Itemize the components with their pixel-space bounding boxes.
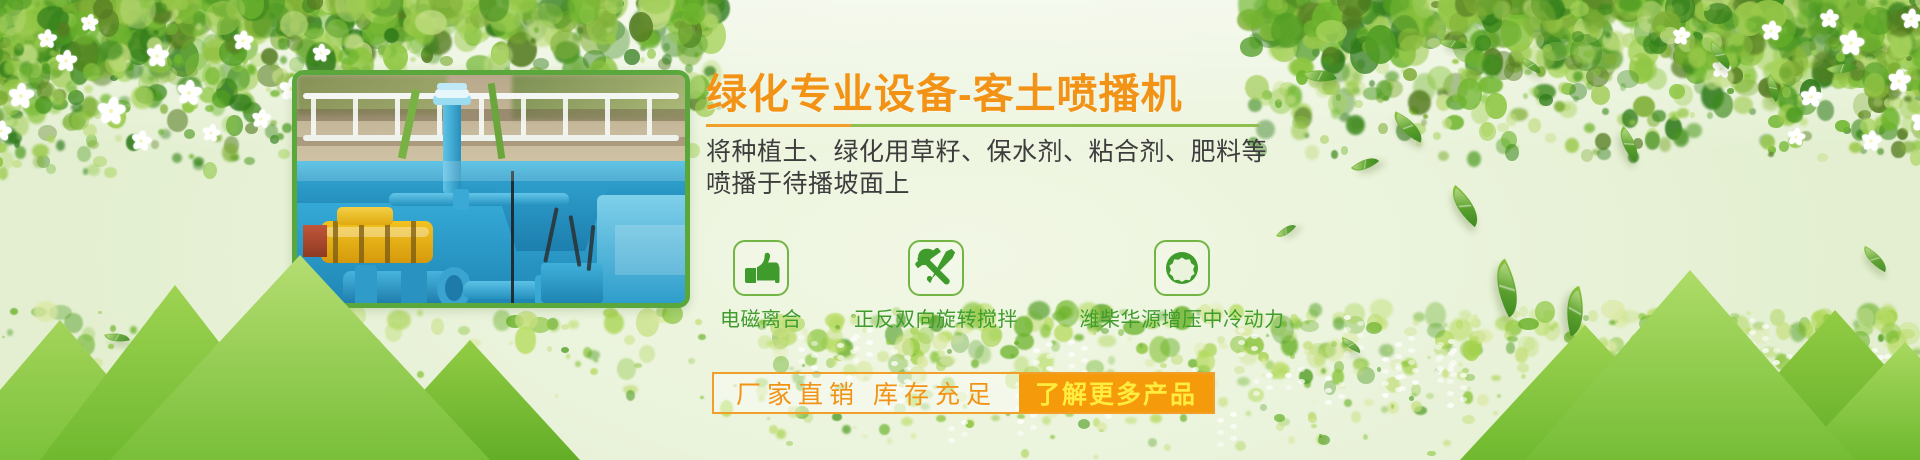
grass-blob bbox=[1718, 388, 1728, 397]
foliage-blob bbox=[403, 12, 434, 37]
foliage-blob bbox=[636, 0, 654, 13]
foliage-blob bbox=[1249, 11, 1267, 25]
foliage-blob bbox=[1742, 12, 1751, 22]
foliage-blob bbox=[1733, 0, 1761, 16]
foliage-blob bbox=[1756, 3, 1784, 25]
leaf-icon bbox=[1339, 337, 1363, 353]
foliage-blob bbox=[1543, 42, 1569, 62]
grass-blob bbox=[1459, 310, 1472, 318]
foliage-blob bbox=[1910, 44, 1920, 58]
foliage-blob bbox=[416, 0, 435, 18]
photo-detail bbox=[453, 189, 469, 210]
foliage-blob bbox=[700, 14, 718, 32]
foliage-blob bbox=[1734, 0, 1755, 4]
leaf-icon bbox=[1442, 185, 1487, 227]
foliage-blob bbox=[1800, 79, 1821, 104]
grass-blob bbox=[1649, 350, 1664, 370]
foliage-blob bbox=[142, 19, 164, 47]
foliage-blob bbox=[1401, 69, 1406, 73]
foliage-blob bbox=[1873, 40, 1885, 50]
foliage-blob bbox=[325, 19, 348, 48]
foliage-blob bbox=[1649, 37, 1667, 54]
foliage-blob bbox=[1879, 122, 1897, 140]
grass-blob bbox=[1139, 343, 1143, 348]
foliage-blob bbox=[47, 57, 61, 74]
foliage-blob bbox=[289, 19, 299, 31]
grass-blob bbox=[1864, 405, 1878, 421]
foliage-blob bbox=[576, 11, 594, 24]
foliage-blob bbox=[0, 71, 20, 95]
foliage-blob bbox=[1647, 113, 1660, 128]
foliage-blob bbox=[1766, 0, 1780, 11]
foliage-blob bbox=[69, 36, 99, 71]
grass-blob bbox=[1653, 390, 1660, 395]
foliage-blob bbox=[421, 47, 433, 63]
grass-blob bbox=[385, 322, 402, 341]
foliage-blob bbox=[278, 15, 309, 38]
thumbs-up-icon bbox=[733, 240, 789, 296]
foliage-blob bbox=[177, 0, 189, 10]
foliage-blob bbox=[1810, 0, 1848, 14]
grass-blob bbox=[2, 336, 5, 338]
foliage-blob bbox=[1861, 131, 1872, 140]
grass-blob bbox=[1465, 374, 1475, 380]
foliage-blob bbox=[1749, 108, 1757, 115]
grass-blob bbox=[64, 313, 83, 333]
foliage-blob bbox=[1251, 4, 1287, 48]
foliage-blob bbox=[651, 0, 675, 19]
grass-blob bbox=[1536, 386, 1539, 389]
grass-blob bbox=[231, 376, 248, 396]
foliage-blob bbox=[1794, 92, 1817, 115]
foliage-blob bbox=[1674, 131, 1687, 144]
foliage-blob bbox=[1792, 100, 1805, 116]
foliage-blob bbox=[111, 0, 144, 23]
grass-blob bbox=[566, 354, 570, 359]
foliage-blob bbox=[1882, 64, 1903, 86]
foliage-blob bbox=[42, 61, 48, 66]
grass-blob bbox=[938, 331, 953, 342]
grass-blob bbox=[1783, 376, 1789, 380]
grass-blob bbox=[1887, 331, 1907, 356]
foliage-blob bbox=[1790, 0, 1827, 35]
foliage-blob bbox=[129, 15, 147, 28]
grass-blob bbox=[1811, 311, 1824, 328]
foliage-blob bbox=[1462, 67, 1470, 77]
foliage-blob bbox=[1894, 7, 1915, 31]
foliage-blob bbox=[1365, 25, 1396, 64]
foliage-blob bbox=[276, 133, 284, 141]
foliage-blob bbox=[403, 0, 434, 23]
grass-blob bbox=[1587, 420, 1593, 425]
foliage-blob bbox=[1915, 0, 1920, 14]
foliage-blob bbox=[519, 0, 532, 9]
foliage-blob bbox=[1, 0, 32, 17]
foliage-blob bbox=[1909, 0, 1920, 26]
grass-blob bbox=[1643, 344, 1653, 350]
foliage-blob bbox=[647, 29, 660, 45]
foliage-blob bbox=[329, 5, 340, 14]
foliage-blob bbox=[1298, 0, 1335, 21]
foliage-blob bbox=[1605, 32, 1611, 38]
foliage-blob bbox=[104, 25, 111, 31]
grass-blob bbox=[1847, 443, 1854, 448]
grass-blob bbox=[1171, 354, 1183, 364]
foliage-blob bbox=[1583, 11, 1605, 34]
foliage-blob bbox=[99, 0, 114, 6]
foliage-blob bbox=[4, 79, 26, 95]
foliage-blob bbox=[0, 51, 10, 64]
foliage-blob bbox=[571, 12, 580, 22]
foliage-blob bbox=[1371, 16, 1391, 43]
grass-blob bbox=[1345, 316, 1365, 334]
grass-blob bbox=[1600, 351, 1619, 364]
foliage-blob bbox=[1606, 32, 1618, 45]
foliage-blob bbox=[190, 23, 204, 38]
feature-label-0: 电磁离合 bbox=[706, 303, 816, 332]
foliage-blob bbox=[470, 2, 478, 8]
foliage-blob bbox=[0, 0, 20, 16]
foliage-blob bbox=[139, 62, 159, 85]
foliage-blob bbox=[1616, 12, 1625, 22]
foliage-blob bbox=[29, 81, 37, 89]
foliage-blob bbox=[1274, 0, 1306, 32]
foliage-blob bbox=[303, 23, 324, 40]
foliage-blob bbox=[1634, 0, 1646, 6]
foliage-blob bbox=[1540, 0, 1575, 17]
grass-sprig bbox=[1247, 352, 1249, 354]
foliage-blob bbox=[15, 14, 49, 40]
foliage-blob bbox=[126, 0, 146, 22]
grass-blob bbox=[1261, 358, 1266, 365]
foliage-blob bbox=[124, 19, 153, 40]
grass-blob bbox=[10, 308, 18, 314]
grass-blob bbox=[1566, 366, 1580, 378]
foliage-blob bbox=[131, 0, 159, 20]
grass-blob bbox=[307, 312, 316, 323]
grass-blob bbox=[1851, 342, 1854, 344]
foliage-blob bbox=[1584, 123, 1595, 133]
foliage-blob bbox=[1913, 0, 1920, 21]
foliage-blob bbox=[1906, 33, 1912, 39]
foliage-blob bbox=[21, 23, 49, 47]
foliage-blob bbox=[1870, 0, 1895, 14]
grass-blob bbox=[1833, 331, 1849, 342]
foliage-blob bbox=[319, 28, 342, 54]
foliage-blob bbox=[167, 109, 187, 132]
foliage-blob bbox=[1598, 4, 1612, 14]
foliage-blob bbox=[138, 73, 159, 94]
foliage-blob bbox=[1744, 4, 1753, 14]
grass-blob bbox=[1281, 365, 1290, 373]
foliage-blob bbox=[1292, 0, 1313, 16]
foliage-blob bbox=[600, 10, 617, 28]
foliage-blob bbox=[1566, 0, 1576, 11]
foliage-blob bbox=[0, 54, 15, 76]
foliage-blob bbox=[1238, 0, 1277, 29]
grass-blob bbox=[1402, 358, 1417, 376]
foliage-blob bbox=[1712, 67, 1734, 88]
leaf-icon bbox=[1484, 259, 1531, 318]
foliage-blob bbox=[1860, 118, 1876, 134]
grass-blob bbox=[1619, 310, 1641, 324]
foliage-blob bbox=[1808, 2, 1820, 13]
foliage-blob bbox=[556, 11, 577, 32]
grass-sprig bbox=[1832, 401, 1834, 403]
foliage-blob bbox=[1702, 16, 1708, 23]
foliage-blob bbox=[128, 49, 149, 65]
grass-blob bbox=[1730, 336, 1734, 340]
foliage-blob bbox=[678, 14, 699, 29]
grass-blob bbox=[1401, 361, 1410, 367]
foliage-blob bbox=[1481, 122, 1493, 136]
foliage-blob bbox=[1853, 23, 1861, 29]
white-flower-icon bbox=[140, 140, 142, 142]
foliage-blob bbox=[1293, 31, 1320, 63]
product-photo-frame[interactable] bbox=[292, 70, 690, 308]
grass-blob bbox=[342, 347, 350, 356]
foliage-blob bbox=[1313, 15, 1344, 55]
grass-blob bbox=[1776, 322, 1791, 341]
grass-blob bbox=[769, 425, 777, 434]
grass-blob bbox=[1467, 387, 1471, 390]
foliage-blob bbox=[1672, 0, 1690, 16]
mountain-peak bbox=[1460, 325, 1710, 460]
foliage-blob bbox=[585, 0, 615, 19]
foliage-blob bbox=[193, 157, 204, 166]
grass-sprig bbox=[1559, 443, 1561, 445]
foliage-blob bbox=[1758, 0, 1784, 10]
foliage-blob bbox=[1449, 0, 1454, 5]
foliage-blob bbox=[651, 7, 665, 18]
foliage-blob bbox=[1692, 4, 1701, 10]
foliage-blob bbox=[1281, 30, 1288, 38]
foliage-blob bbox=[1860, 146, 1866, 153]
grass-blob bbox=[1573, 346, 1577, 349]
foliage-blob bbox=[15, 16, 37, 35]
grass-blob bbox=[1725, 317, 1737, 325]
foliage-blob bbox=[1866, 62, 1889, 86]
foliage-blob bbox=[364, 30, 378, 40]
foliage-blob bbox=[1547, 49, 1576, 73]
foliage-blob bbox=[1392, 0, 1422, 25]
foliage-blob bbox=[1680, 9, 1707, 40]
grass-blob bbox=[1679, 376, 1690, 389]
foliage-blob bbox=[1776, 6, 1794, 28]
grass-blob bbox=[1521, 374, 1526, 379]
foliage-blob bbox=[1909, 80, 1920, 101]
grass-blob bbox=[1266, 334, 1269, 337]
foliage-blob bbox=[700, 3, 720, 28]
foliage-blob bbox=[151, 2, 167, 14]
foliage-blob bbox=[1399, 35, 1429, 66]
foliage-blob bbox=[1828, 35, 1840, 48]
grass-blob bbox=[300, 316, 320, 338]
feature-item-2: 潍柴华源增压中冷动力 bbox=[1058, 240, 1306, 332]
foliage-blob bbox=[1637, 1, 1665, 33]
foliage-blob bbox=[509, 5, 515, 12]
foliage-blob bbox=[1824, 44, 1835, 54]
grass-blob bbox=[1808, 391, 1817, 401]
foliage-blob bbox=[226, 0, 245, 20]
foliage-blob bbox=[1583, 0, 1604, 9]
grass-blob bbox=[769, 338, 788, 350]
foliage-blob bbox=[465, 18, 479, 33]
grass-blob bbox=[1351, 411, 1362, 424]
foliage-blob bbox=[1836, 0, 1868, 21]
foliage-blob bbox=[1658, 25, 1673, 35]
foliage-blob bbox=[1880, 10, 1898, 23]
foliage-blob bbox=[1852, 14, 1886, 52]
foliage-blob bbox=[1397, 27, 1412, 41]
grass-blob bbox=[278, 348, 281, 351]
grass-blob bbox=[239, 321, 260, 342]
foliage-blob bbox=[1915, 13, 1920, 21]
foliage-blob bbox=[202, 34, 225, 59]
foliage-blob bbox=[73, 38, 99, 58]
foliage-blob bbox=[0, 1, 11, 11]
foliage-blob bbox=[1565, 138, 1579, 154]
grass-blob bbox=[1616, 319, 1620, 323]
foliage-blob bbox=[82, 96, 98, 116]
foliage-blob bbox=[196, 23, 202, 30]
foliage-blob bbox=[554, 41, 580, 63]
foliage-blob bbox=[189, 154, 194, 159]
foliage-blob bbox=[199, 87, 217, 103]
foliage-blob bbox=[1536, 92, 1549, 106]
foliage-blob bbox=[1455, 0, 1478, 17]
foliage-blob bbox=[1465, 50, 1486, 68]
foliage-blob bbox=[90, 25, 105, 44]
grass-blob bbox=[1856, 421, 1867, 428]
foliage-blob bbox=[1328, 92, 1347, 115]
grass-blob bbox=[1613, 382, 1626, 394]
promo-text: 厂家直销 库存充足 bbox=[714, 374, 1019, 412]
grass-blob bbox=[1042, 416, 1051, 425]
grass-blob bbox=[1752, 381, 1766, 396]
foliage-blob bbox=[1445, 13, 1469, 36]
foliage-blob bbox=[1260, 26, 1272, 42]
grass-blob bbox=[1093, 332, 1096, 334]
foliage-blob bbox=[1575, 1, 1585, 9]
white-flower-icon bbox=[0, 130, 2, 132]
grass-blob bbox=[1728, 365, 1740, 373]
foliage-blob bbox=[71, 24, 78, 32]
foliage-blob bbox=[383, 43, 409, 71]
foliage-blob bbox=[1849, 82, 1854, 88]
grass-blob bbox=[89, 389, 99, 400]
grass-blob bbox=[1281, 335, 1299, 356]
foliage-blob bbox=[1472, 7, 1483, 16]
foliage-blob bbox=[1836, 52, 1846, 62]
foliage-blob bbox=[1900, 4, 1920, 36]
foliage-blob bbox=[1292, 9, 1310, 29]
foliage-blob bbox=[1765, 0, 1782, 9]
grass-blob bbox=[506, 315, 524, 328]
foliage-blob bbox=[25, 0, 37, 10]
grass-blob bbox=[636, 308, 660, 337]
grass-blob bbox=[110, 325, 116, 332]
grass-blob bbox=[389, 370, 404, 381]
grass-blob bbox=[1319, 363, 1323, 368]
grass-blob bbox=[1442, 369, 1449, 378]
foliage-blob bbox=[1914, 106, 1920, 120]
foliage-blob bbox=[1615, 64, 1620, 68]
foliage-blob bbox=[106, 22, 136, 54]
foliage-blob bbox=[285, 0, 317, 30]
foliage-blob bbox=[1479, 122, 1497, 141]
grass-blob bbox=[1517, 363, 1529, 374]
foliage-blob bbox=[572, 0, 609, 15]
foliage-blob bbox=[354, 42, 372, 64]
grass-blob bbox=[624, 335, 635, 345]
grass-blob bbox=[1755, 362, 1767, 371]
foliage-blob bbox=[79, 0, 89, 8]
foliage-blob bbox=[53, 38, 66, 48]
foliage-blob bbox=[165, 20, 197, 48]
foliage-blob bbox=[23, 82, 42, 100]
foliage-blob bbox=[212, 77, 222, 89]
grass-blob bbox=[1443, 440, 1451, 446]
white-flower-icon bbox=[156, 55, 158, 57]
foliage-blob bbox=[52, 65, 63, 77]
foliage-blob bbox=[1791, 28, 1796, 34]
foliage-blob bbox=[1895, 40, 1920, 70]
foliage-blob bbox=[1393, 51, 1399, 58]
foliage-blob bbox=[205, 105, 214, 112]
feature-item-0: 电磁离合 bbox=[706, 240, 816, 332]
foliage-blob bbox=[6, 0, 32, 10]
foliage-blob bbox=[1857, 18, 1867, 26]
leaf-icon bbox=[1519, 57, 1543, 73]
foliage-blob bbox=[1667, 0, 1693, 21]
grass-sprig bbox=[1886, 379, 1888, 381]
foliage-blob bbox=[616, 0, 624, 7]
foliage-blob bbox=[2, 127, 17, 145]
foliage-blob bbox=[105, 35, 112, 42]
foliage-blob bbox=[19, 64, 44, 82]
foliage-blob bbox=[1402, 0, 1427, 16]
foliage-blob bbox=[58, 98, 65, 107]
grass-blob bbox=[778, 331, 797, 346]
foliage-blob bbox=[338, 48, 359, 65]
foliage-blob bbox=[306, 0, 324, 9]
learn-more-button[interactable]: 了解更多产品 bbox=[1019, 374, 1213, 412]
grass-blob bbox=[1513, 322, 1517, 325]
foliage-blob bbox=[1445, 115, 1464, 130]
white-flower-icon bbox=[320, 52, 321, 53]
grass-blob bbox=[520, 315, 537, 326]
foliage-blob bbox=[0, 71, 5, 84]
foliage-blob bbox=[491, 9, 517, 39]
foliage-blob bbox=[70, 60, 89, 85]
foliage-blob bbox=[1674, 37, 1693, 54]
foliage-blob bbox=[385, 12, 390, 16]
grass-blob bbox=[1160, 363, 1167, 368]
foliage-blob bbox=[592, 18, 625, 42]
foliage-blob bbox=[38, 15, 48, 24]
grass-blob bbox=[1589, 334, 1593, 336]
grass-blob bbox=[1559, 363, 1562, 367]
foliage-blob bbox=[1615, 1, 1627, 11]
foliage-blob bbox=[1302, 8, 1334, 41]
grass-blob bbox=[1463, 340, 1480, 362]
foliage-blob bbox=[641, 36, 646, 41]
foliage-blob bbox=[1865, 54, 1875, 61]
grass-blob bbox=[548, 318, 560, 331]
foliage-blob bbox=[1373, 2, 1390, 16]
foliage-blob bbox=[1365, 12, 1387, 39]
